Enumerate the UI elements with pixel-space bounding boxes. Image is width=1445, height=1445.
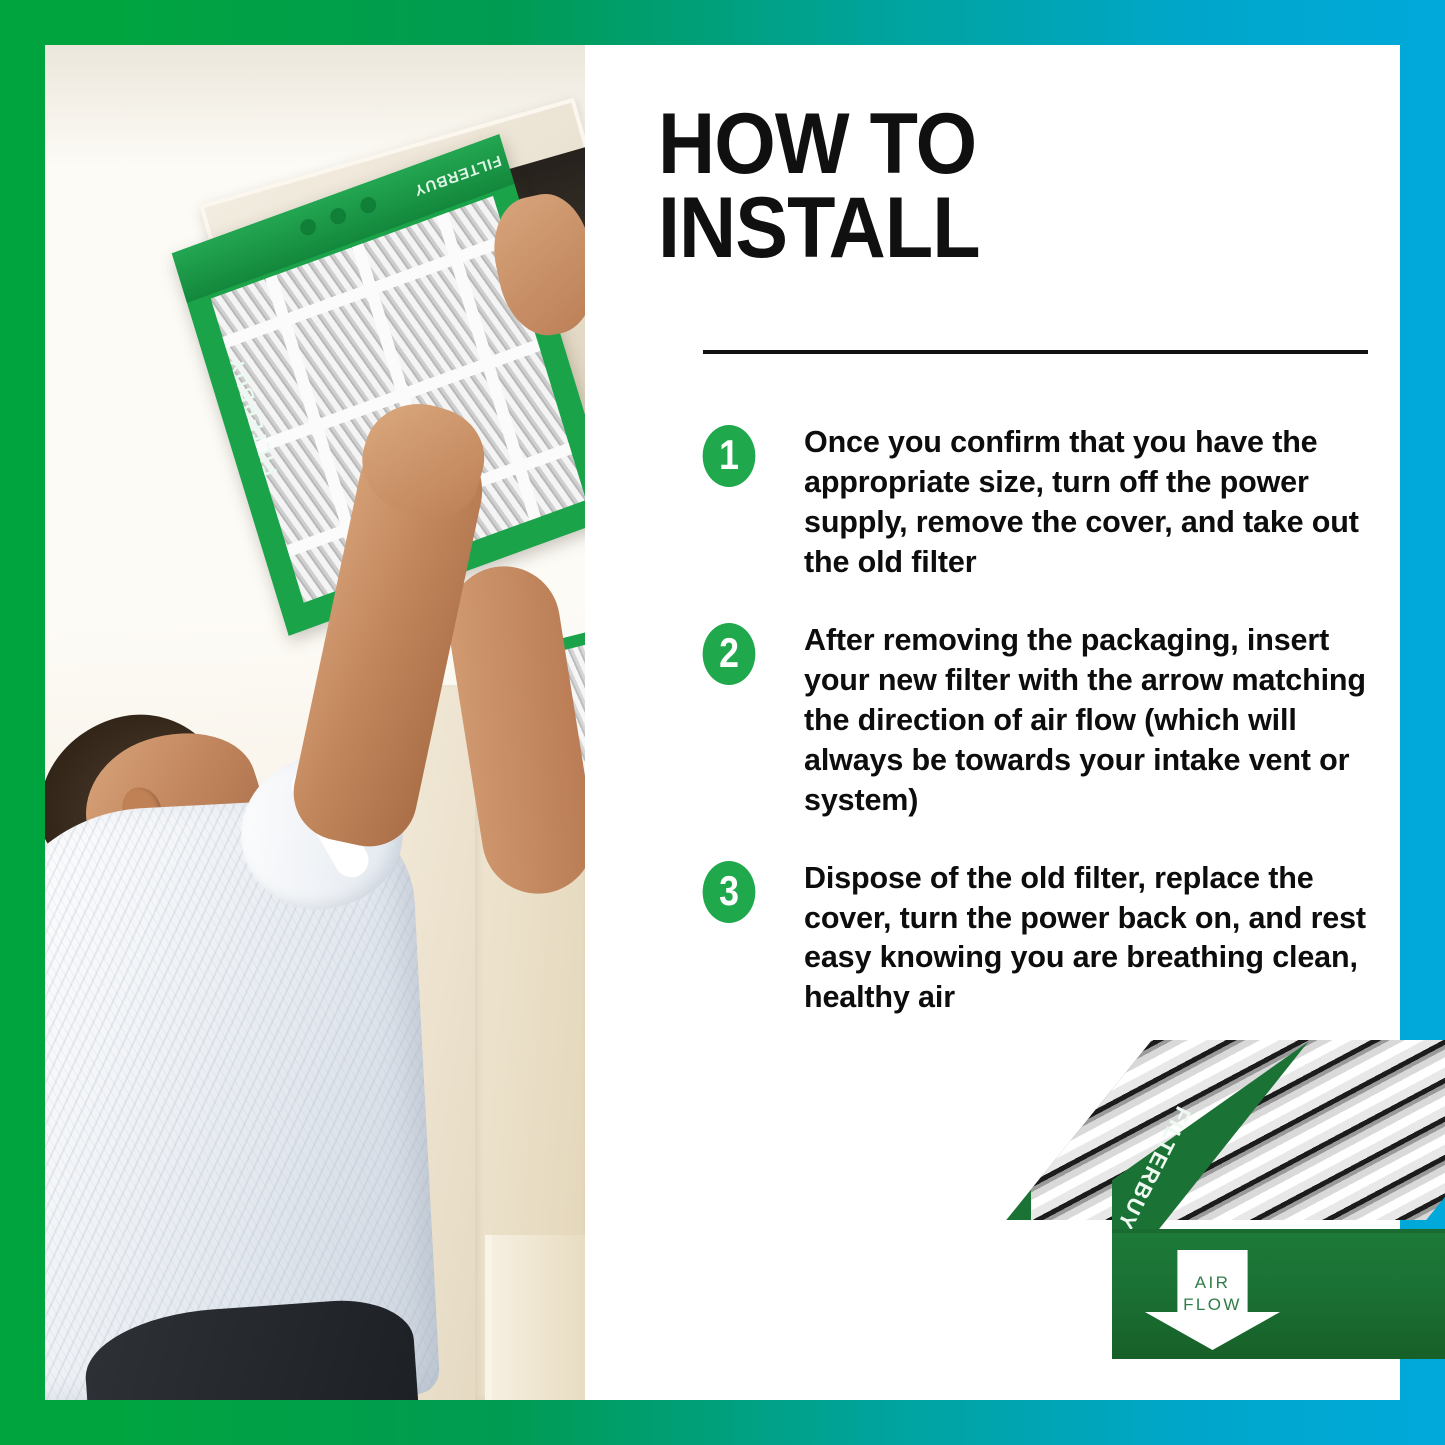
air-flow-label-line-1: AIR: [1145, 1272, 1280, 1294]
product-filter-image: FILTERBUY AIR FLOW: [1060, 1018, 1445, 1358]
page-title: HOW TO INSTALL: [658, 102, 1302, 271]
air-flow-arrow-icon: AIR FLOW: [1145, 1250, 1280, 1350]
air-flow-label-line-2: FLOW: [1145, 1294, 1280, 1316]
photo-door-frame: [485, 1235, 585, 1400]
step-text-2: After removing the packaging, insert you…: [804, 621, 1389, 821]
step-badge-2: 2: [703, 623, 756, 685]
page-title-line-1: HOW TO: [658, 102, 1302, 186]
installation-photo: FILTERBUY FILTERBUY: [45, 45, 585, 1400]
air-flow-label: AIR FLOW: [1145, 1272, 1280, 1317]
step-text-3: Dispose of the old filter, replace the c…: [804, 859, 1389, 1019]
step-badge-3: 3: [703, 861, 756, 923]
list-item: 2 After removing the packaging, insert y…: [698, 621, 1398, 821]
steps-list: 1 Once you confirm that you have the app…: [698, 423, 1398, 1056]
poster-root: FILTERBUY FILTERBUY HOW TO: [0, 0, 1445, 1445]
step-text-1: Once you confirm that you have the appro…: [804, 423, 1389, 583]
list-item: 1 Once you confirm that you have the app…: [698, 423, 1398, 583]
page-title-line-2: INSTALL: [658, 186, 1302, 270]
list-item: 3 Dispose of the old filter, replace the…: [698, 859, 1398, 1019]
product-brand-bar: FILTERBUY: [1112, 1042, 1308, 1234]
title-divider: [703, 350, 1368, 354]
step-badge-1: 1: [703, 425, 756, 487]
